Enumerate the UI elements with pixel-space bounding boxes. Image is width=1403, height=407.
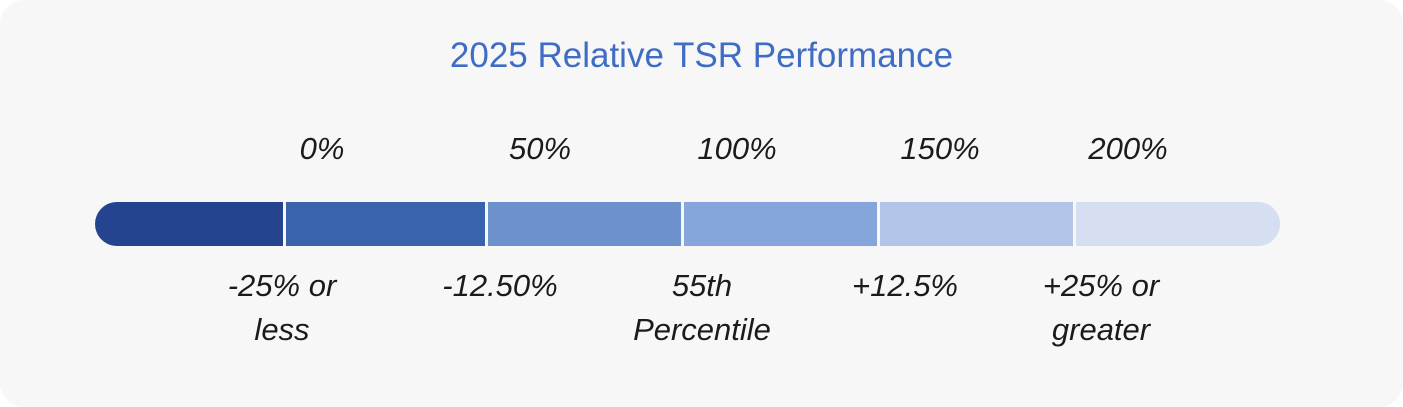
bar-segment-1 [286, 202, 488, 246]
bottom-tick-label-0-line2: less [228, 308, 337, 352]
bar-segment-4 [880, 202, 1076, 246]
top-tick-label-3: 150% [900, 131, 979, 167]
top-tick-label-4: 200% [1088, 131, 1167, 167]
tsr-scale: 0% 50% 100% 150% 200% -25% or less -12.5… [95, 0, 1280, 407]
bottom-tick-label-2-line1: 55th [672, 268, 732, 303]
bottom-tick-label-0: -25% or less [228, 264, 337, 352]
bar-segment-2 [488, 202, 684, 246]
bottom-tick-label-3: +12.5% [852, 264, 958, 308]
bottom-tick-label-3-line1: +12.5% [852, 268, 958, 303]
bottom-tick-label-4: +25% or greater [1043, 264, 1159, 352]
top-tick-label-2: 100% [697, 131, 776, 167]
bar-segment-0 [95, 202, 286, 246]
bottom-tick-label-1: -12.50% [442, 264, 557, 308]
tsr-gradient-bar [95, 202, 1280, 246]
tsr-performance-card: 2025 Relative TSR Performance 0% 50% 100… [0, 0, 1403, 407]
top-tick-label-0: 0% [300, 131, 345, 167]
bottom-tick-label-2-line2: Percentile [633, 308, 771, 352]
bottom-tick-label-1-line1: -12.50% [442, 268, 557, 303]
bottom-tick-label-0-line1: -25% or [228, 268, 337, 303]
bar-segment-5 [1076, 202, 1280, 246]
top-tick-label-1: 50% [509, 131, 571, 167]
bottom-tick-label-4-line2: greater [1043, 308, 1159, 352]
bar-segment-3 [684, 202, 880, 246]
bottom-tick-label-4-line1: +25% or [1043, 268, 1159, 303]
bottom-tick-label-2: 55th Percentile [633, 264, 771, 352]
